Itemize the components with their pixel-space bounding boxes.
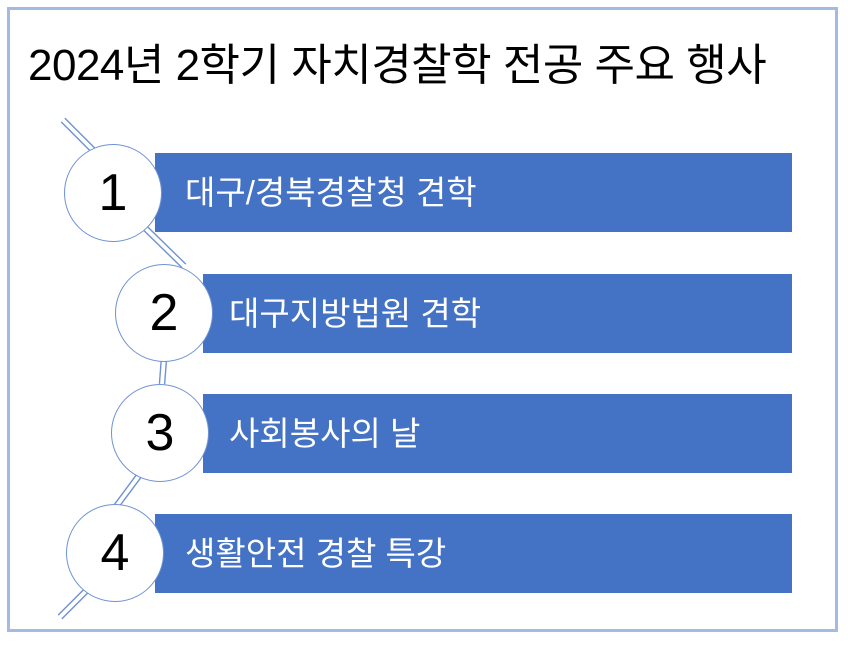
step-number-circle[interactable]: 2 xyxy=(115,264,213,362)
process-bar-label: 생활안전 경찰 특강 xyxy=(185,535,446,573)
step-number-text: 1 xyxy=(99,167,128,219)
step-number-text: 3 xyxy=(146,407,175,459)
process-bar-label: 사회봉사의 날 xyxy=(229,415,420,453)
process-bar[interactable]: 생활안전 경찰 특강 xyxy=(155,514,792,593)
process-bar-label: 대구지방법원 견학 xyxy=(229,295,481,333)
step-number-circle[interactable]: 1 xyxy=(64,144,162,242)
process-diagram: 대구/경북경찰청 견학1대구지방법원 견학2사회봉사의 날3생활안전 경찰 특강… xyxy=(0,0,848,649)
step-number-circle[interactable]: 3 xyxy=(111,384,209,482)
step-number-circle[interactable]: 4 xyxy=(66,504,164,602)
slide-canvas: 2024년 2학기 자치경찰학 전공 주요 행사 대구/경북경찰청 견학1대구지… xyxy=(0,0,848,649)
step-number-text: 2 xyxy=(150,287,179,339)
process-bar[interactable]: 대구/경북경찰청 견학 xyxy=(155,153,792,232)
step-number-text: 4 xyxy=(101,527,130,579)
process-bar[interactable]: 사회봉사의 날 xyxy=(203,394,792,473)
process-bar-label: 대구/경북경찰청 견학 xyxy=(185,174,477,212)
process-bar[interactable]: 대구지방법원 견학 xyxy=(203,274,792,353)
